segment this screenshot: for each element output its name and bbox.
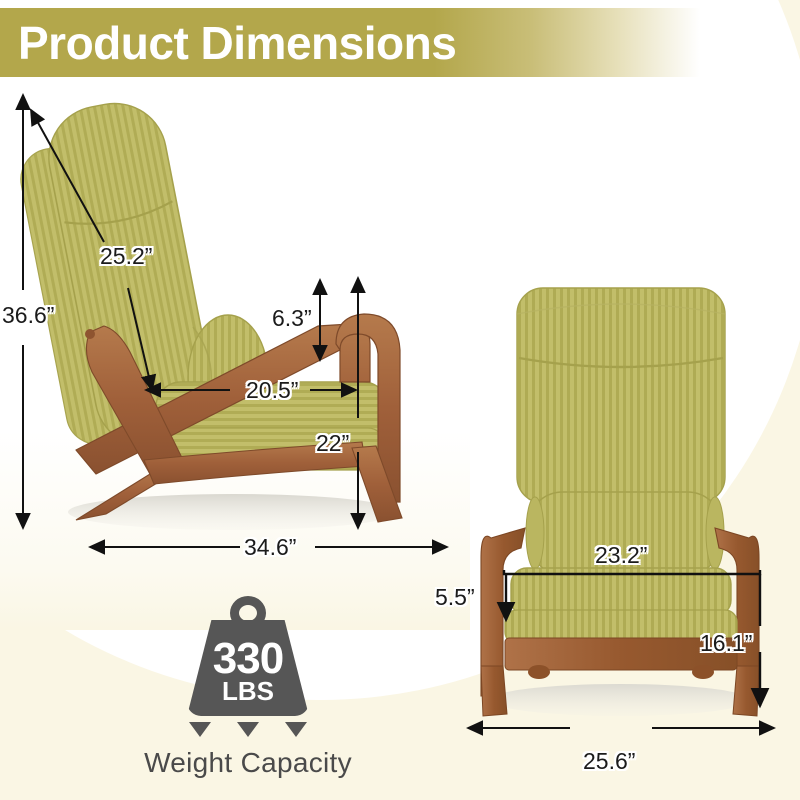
weight-capacity-block: 330 LBS Weight Capacity bbox=[118, 596, 378, 779]
dim-overall-depth: 34.6” bbox=[244, 534, 296, 561]
down-arrow-icon bbox=[189, 722, 211, 737]
weight-capacity-label: Weight Capacity bbox=[118, 747, 378, 779]
down-arrow-icon bbox=[285, 722, 307, 737]
dim-back-top-height: 22” bbox=[316, 430, 349, 457]
weight-arrows-group bbox=[118, 722, 378, 737]
dim-cushion-thickness: 5.5” bbox=[435, 584, 475, 611]
dim-seat-depth: 20.5” bbox=[246, 377, 298, 404]
dim-backrest-height: 25.2” bbox=[100, 243, 152, 270]
dim-arm-height: 6.3” bbox=[272, 305, 312, 332]
side-view-dimension-lines bbox=[0, 0, 470, 580]
down-arrow-icon bbox=[237, 722, 259, 737]
dim-seat-width: 23.2” bbox=[595, 542, 647, 569]
dim-seat-height: 16.1” bbox=[700, 630, 752, 657]
weight-unit: LBS bbox=[183, 676, 313, 707]
weight-icon: 330 LBS bbox=[183, 596, 313, 716]
dim-overall-width: 25.6” bbox=[583, 748, 635, 775]
product-dimensions-infographic: SIZE Product Dimensions bbox=[0, 0, 800, 800]
dim-overall-height: 36.6” bbox=[2, 302, 54, 329]
